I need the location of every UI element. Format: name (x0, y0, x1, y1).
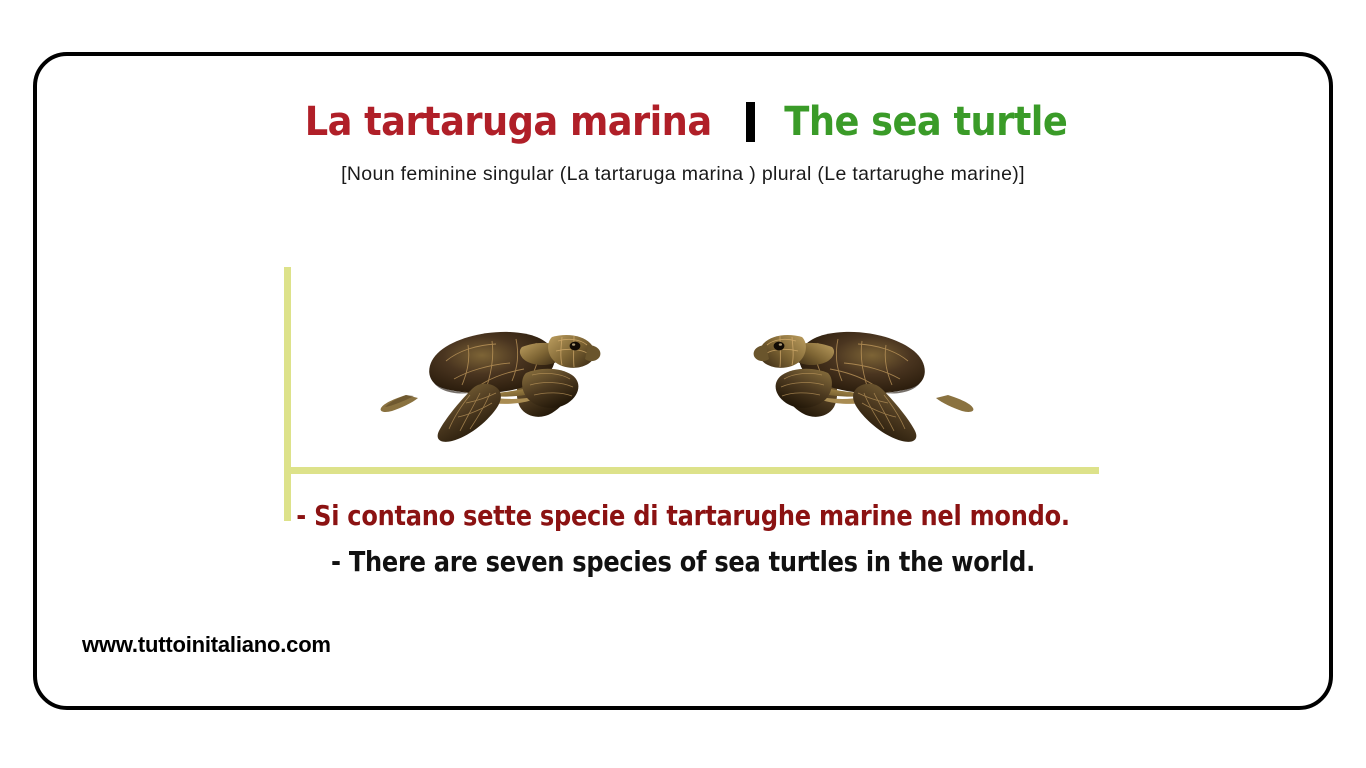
italian-term-title: La tartaruga marina (304, 101, 711, 143)
website-url: www.tuttoinitaliano.com (82, 632, 331, 658)
example-sentences: - Si contano sette specie di tartarughe … (37, 499, 1329, 578)
grammar-note: [Noun feminine singular (La tartaruga ma… (37, 163, 1329, 186)
english-term-title: The sea turtle (784, 101, 1067, 143)
headline-row: La tartaruga marina The sea turtle (37, 101, 1329, 143)
sea-turtle-image-right (748, 299, 978, 444)
sea-turtle-icon (748, 299, 978, 444)
sea-turtle-icon (376, 299, 606, 444)
example-sentence-english: - There are seven species of sea turtles… (127, 545, 1238, 578)
accent-rule-horizontal (284, 467, 1099, 474)
card-frame: La tartaruga marina The sea turtle [Noun… (33, 52, 1333, 710)
example-sentence-italian: - Si contano sette specie di tartarughe … (127, 499, 1238, 532)
illustration-strip (291, 269, 1099, 467)
sea-turtle-image-left (376, 299, 606, 444)
accent-rule-vertical (284, 267, 291, 521)
vocabulary-card-page: La tartaruga marina The sea turtle [Noun… (0, 0, 1366, 768)
title-separator-bar (746, 102, 755, 142)
